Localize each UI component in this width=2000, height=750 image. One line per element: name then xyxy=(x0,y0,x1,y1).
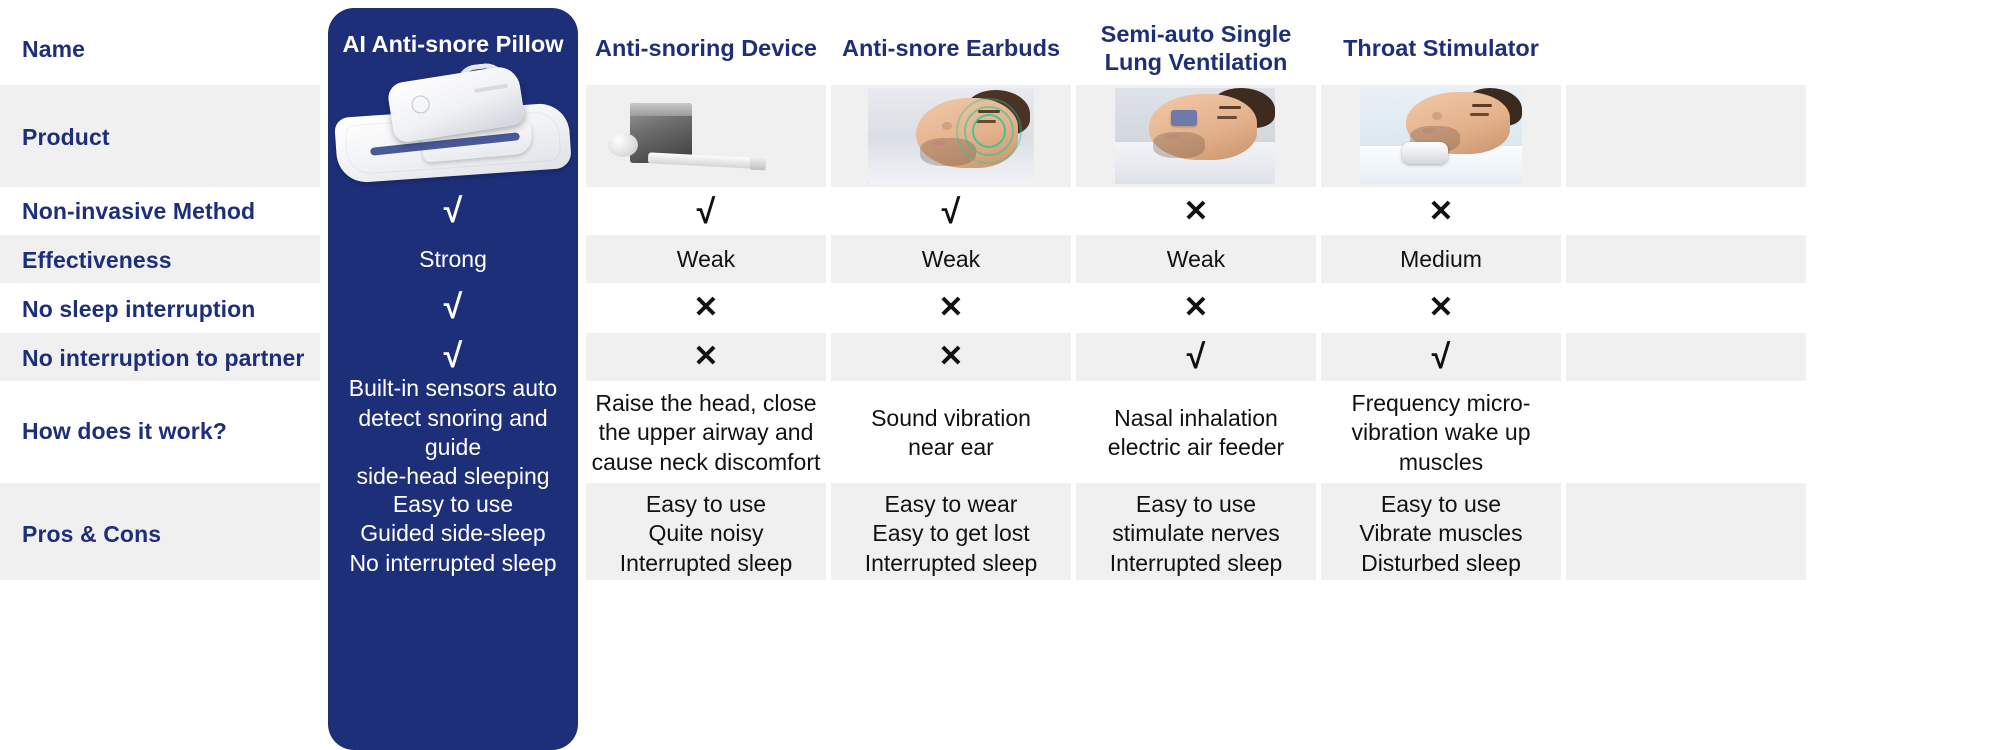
column-header-semi-auto-lung-ventilation: Semi-auto Single Lung Ventilation xyxy=(1076,20,1316,76)
featured-pros-cons-value: Easy to use Guided side-sleep No interru… xyxy=(328,487,578,581)
featured-non-invasive-value: √ xyxy=(328,188,578,236)
anti-snore-earbuds-no-sleep: ✕ xyxy=(831,284,1071,332)
ai-anti-snore-pillow-photo xyxy=(330,62,576,188)
row-label-pros-cons: Pros & Cons xyxy=(22,521,161,548)
comparison-table: Name Product Non-invasive Method Effecti… xyxy=(0,0,2000,750)
anti-snore-earbuds-effectiveness: Weak xyxy=(831,236,1071,284)
row-label-no-partner-interruption: No interruption to partner xyxy=(22,345,304,372)
throat-photo-brow xyxy=(1472,104,1492,107)
anti-snoring-device-how-it-works: Raise the head, close the upper airway a… xyxy=(586,386,826,480)
stripe-partner-c5 xyxy=(1566,333,1806,381)
column-header-anti-snore-earbuds: Anti-snore Earbuds xyxy=(831,34,1071,62)
stripe-product-c5 xyxy=(1566,85,1806,187)
row-label-name: Name xyxy=(22,36,85,63)
semi-auto-lung-ventilation-how-it-works: Nasal inhalation electric air feeder xyxy=(1076,386,1316,480)
featured-product-name: AI Anti-snore Pillow xyxy=(328,30,578,58)
throat-photo-eye xyxy=(1470,113,1489,116)
throat-photo-nose xyxy=(1432,112,1442,120)
pillow-power-button-icon xyxy=(410,94,431,115)
throat-stimulator-device-shape xyxy=(1402,142,1448,164)
pillow-brand-mark xyxy=(474,84,508,93)
anti-snore-earbuds-pros-cons: Easy to wear Easy to get lost Interrupte… xyxy=(831,487,1071,581)
row-label-non-invasive: Non-invasive Method xyxy=(22,198,255,225)
throat-stimulator-non-invasive: ✕ xyxy=(1321,188,1561,236)
row-label-product: Product xyxy=(22,124,110,151)
ventilation-photo-mouth xyxy=(1165,134,1179,139)
anti-snore-earbuds-non-invasive: √ xyxy=(831,188,1071,236)
semi-auto-lung-ventilation-pros-cons: Easy to use stimulate nerves Interrupted… xyxy=(1076,487,1316,581)
semi-auto-lung-ventilation-no-sleep: ✕ xyxy=(1076,284,1316,332)
ventilation-photo-stubble xyxy=(1153,132,1205,158)
earbuds-photo-mouth xyxy=(932,140,946,145)
throat-stimulator-no-sleep: ✕ xyxy=(1321,284,1561,332)
anti-snore-earbuds-no-partner: ✕ xyxy=(831,333,1071,381)
row-label-no-sleep-interruption: No sleep interruption xyxy=(22,296,255,323)
anti-snore-earbuds-how-it-works: Sound vibration near ear xyxy=(831,386,1071,480)
column-header-throat-stimulator: Throat Stimulator xyxy=(1321,34,1561,62)
device-wand-shape xyxy=(648,152,752,168)
anti-snoring-device-no-partner: ✕ xyxy=(586,333,826,381)
throat-stimulator-no-partner: √ xyxy=(1321,333,1561,381)
anti-snoring-device-effectiveness: Weak xyxy=(586,236,826,284)
row-label-effectiveness: Effectiveness xyxy=(22,247,172,274)
column-header-anti-snoring-device: Anti-snoring Device xyxy=(586,34,826,62)
stripe-proscons-c5 xyxy=(1566,483,1806,580)
ventilation-photo-eye xyxy=(1217,116,1237,119)
semi-auto-lung-ventilation-photo xyxy=(1115,88,1275,184)
row-label-how-it-works: How does it work? xyxy=(22,418,227,445)
featured-effectiveness-value: Strong xyxy=(328,236,578,284)
throat-stimulator-photo xyxy=(1360,88,1522,184)
anti-snoring-device-no-sleep: ✕ xyxy=(586,284,826,332)
stripe-effectiveness-c5 xyxy=(1566,235,1806,283)
semi-auto-lung-ventilation-effectiveness: Weak xyxy=(1076,236,1316,284)
anti-snoring-device-photo xyxy=(606,95,806,179)
throat-stimulator-how-it-works: Frequency micro- vibration wake up muscl… xyxy=(1321,386,1561,480)
throat-stimulator-pros-cons: Easy to use Vibrate muscles Disturbed sl… xyxy=(1321,487,1561,581)
featured-no-sleep-value: √ xyxy=(328,284,578,332)
anti-snore-earbuds-photo xyxy=(868,88,1034,184)
anti-snoring-device-non-invasive: √ xyxy=(586,188,826,236)
throat-photo-mouth xyxy=(1422,128,1436,133)
earbuds-photo-nose xyxy=(942,122,952,130)
featured-how-it-works-value: Built-in sensors auto detect snoring and… xyxy=(328,386,578,480)
ventilation-photo-brow xyxy=(1219,106,1241,109)
nasal-device-shape xyxy=(1171,110,1197,126)
semi-auto-lung-ventilation-no-partner: √ xyxy=(1076,333,1316,381)
earbuds-sound-wave-icon-outer2 xyxy=(956,98,1022,164)
throat-stimulator-effectiveness: Medium xyxy=(1321,236,1561,284)
device-pebble-shape xyxy=(608,133,638,157)
anti-snoring-device-pros-cons: Easy to use Quite noisy Interrupted slee… xyxy=(586,487,826,581)
semi-auto-lung-ventilation-non-invasive: ✕ xyxy=(1076,188,1316,236)
